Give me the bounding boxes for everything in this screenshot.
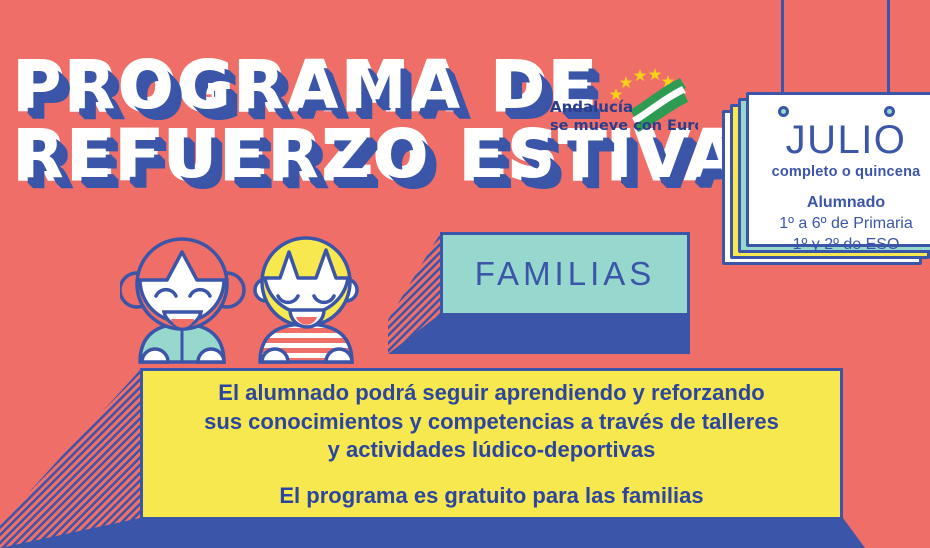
message-box-front-face: El alumnado podrá seguir aprendiendo y r… [140,368,843,520]
girl-figure [120,239,244,362]
message-line-1: El alumnado podrá seguir aprendiendo y r… [218,379,764,408]
logo-line-1: Andalucía [550,98,633,116]
calendar-sheet-front: JULIO completo o quincena Alumnado 1º a … [746,92,930,247]
andalucia-logo: Andalucía se mueve con Europa [548,62,698,140]
familias-banner-label: FAMILIAS [475,255,656,293]
message-highlight: El programa es gratuito para las familia… [279,483,703,509]
calendar-ring-right-icon [884,106,895,117]
message-box: El alumnado podrá seguir aprendiendo y r… [0,358,930,548]
message-line-2: sus conocimientos y competencias a travé… [204,408,779,437]
poster-canvas: PROGRAMA DE REFUERZO ESTIVAL Andalucía [0,0,930,548]
logo-line-2: se mueve con Europa [550,118,698,134]
calendar-audience-line-2: 1º y 2º de ESO [793,236,900,254]
two-children-illustration [120,228,400,378]
message-line-3: y actividades lúdico-deportivas [328,436,656,465]
calendar-string-right [887,0,890,105]
familias-banner: FAMILIAS [388,228,698,354]
calendar-ring-left-icon [778,106,789,117]
familias-banner-front-face: FAMILIAS [440,232,690,316]
calendar-audience-line-1: 1º a 6º de Primaria [779,215,913,233]
boy-figure [255,238,357,362]
calendar-card: JULIO completo o quincena Alumnado 1º a … [700,0,930,300]
calendar-month: JULIO [786,120,907,160]
calendar-string-left [781,0,784,105]
calendar-audience-title: Alumnado [807,194,885,212]
calendar-subtitle: completo o quincena [772,164,921,180]
